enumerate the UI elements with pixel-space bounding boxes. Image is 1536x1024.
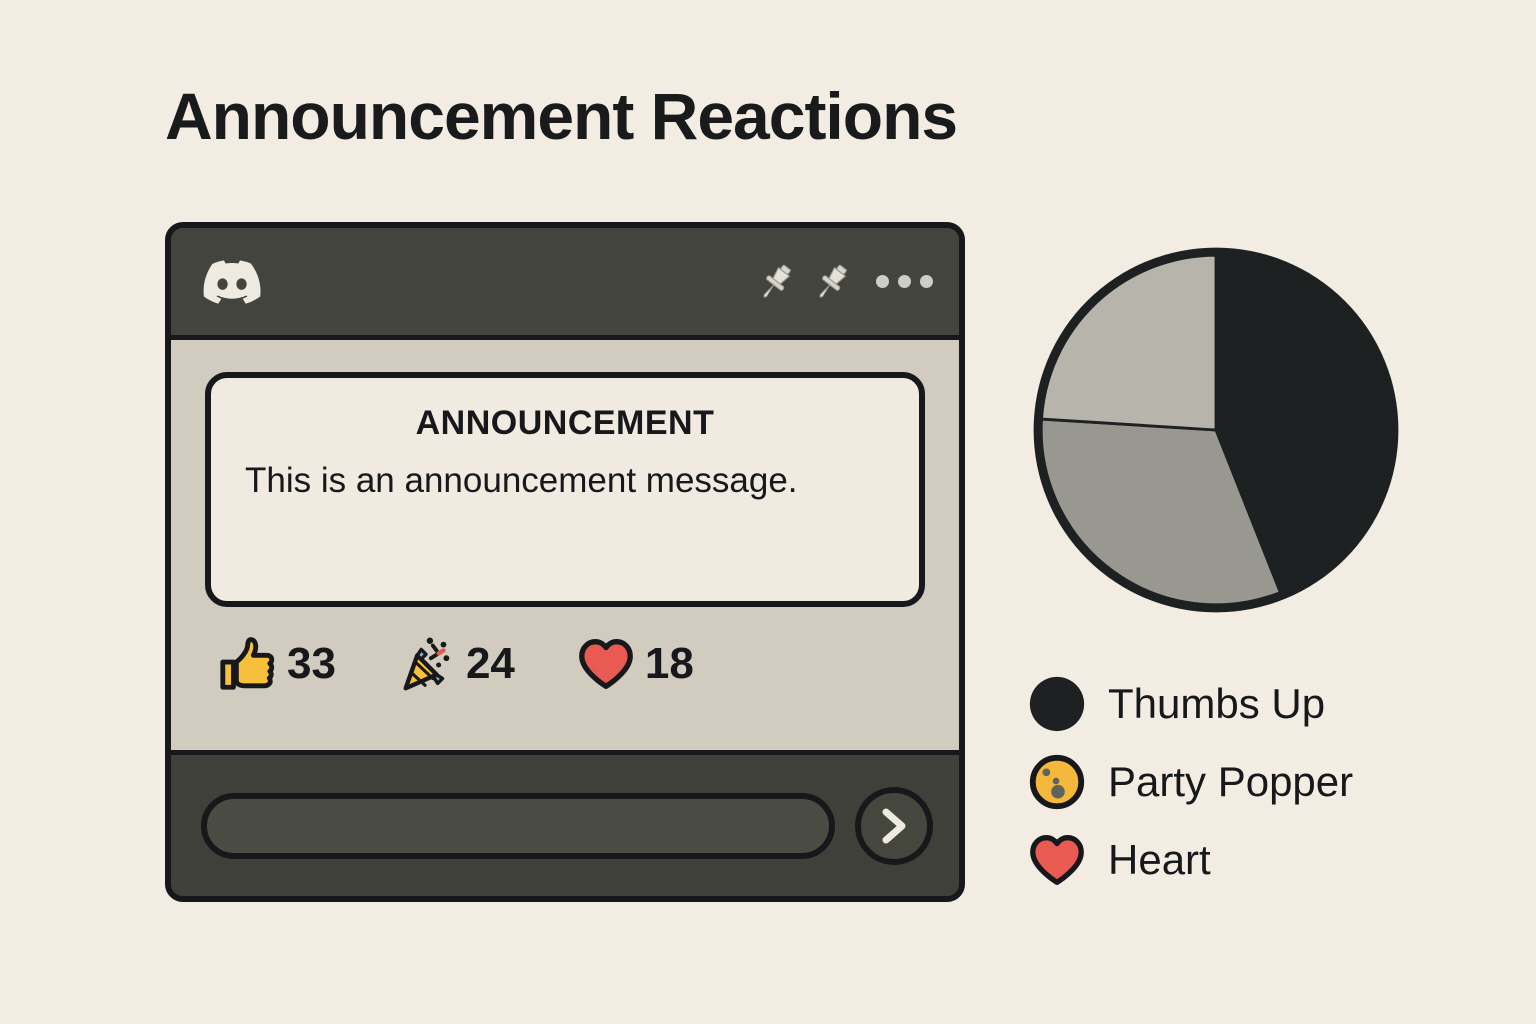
- party-popper-emoji: [1026, 751, 1088, 813]
- filled-circle-dark-icon: [1026, 673, 1088, 735]
- announcement-label: ANNOUNCEMENT: [245, 404, 885, 443]
- more-menu-icon[interactable]: [876, 275, 933, 288]
- reaction-share-pie-chart: [1026, 240, 1406, 620]
- page-title: Announcement Reactions: [165, 78, 957, 154]
- dot: [876, 275, 889, 288]
- thumbs-up-emoji: [217, 633, 279, 695]
- dot: [920, 275, 933, 288]
- chat-window: ANNOUNCEMENT This is an announcement mes…: [165, 222, 965, 902]
- dot: [898, 275, 911, 288]
- legend-item-heart[interactable]: Heart: [1026, 821, 1446, 899]
- pie-slices: [1041, 255, 1391, 605]
- reaction-party-popper[interactable]: 24: [396, 633, 515, 695]
- heart-emoji: [1026, 829, 1088, 891]
- legend-item-party-popper[interactable]: Party Popper: [1026, 743, 1446, 821]
- legend-label: Thumbs Up: [1108, 680, 1325, 728]
- pin-icon[interactable]: [810, 260, 854, 304]
- pin-icon[interactable]: [754, 260, 798, 304]
- composer: [171, 755, 959, 897]
- reaction-count: 33: [287, 639, 336, 689]
- legend-label: Party Popper: [1108, 758, 1353, 806]
- heart-emoji: [575, 633, 637, 695]
- pie-slice-heart: [1042, 255, 1216, 430]
- reaction-row: 33 24: [205, 633, 925, 695]
- discord-logo-icon: [203, 260, 261, 304]
- reaction-count: 24: [466, 639, 515, 689]
- legend-item-thumbs-up[interactable]: Thumbs Up: [1026, 665, 1446, 743]
- message-body: ANNOUNCEMENT This is an announcement mes…: [171, 340, 959, 755]
- reaction-count: 18: [645, 639, 694, 689]
- legend-label: Heart: [1108, 836, 1211, 884]
- announcement-card: ANNOUNCEMENT This is an announcement mes…: [205, 372, 925, 607]
- reaction-heart[interactable]: 18: [575, 633, 694, 695]
- chart-legend: Thumbs Up Party Popper Heart: [1026, 665, 1446, 899]
- party-popper-emoji: [396, 633, 458, 695]
- reaction-thumbs-up[interactable]: 33: [217, 633, 336, 695]
- window-header: [171, 228, 959, 340]
- chevron-right-icon: [877, 806, 911, 846]
- message-input[interactable]: [201, 793, 835, 859]
- announcement-text: This is an announcement message.: [245, 459, 885, 504]
- send-button[interactable]: [855, 787, 933, 865]
